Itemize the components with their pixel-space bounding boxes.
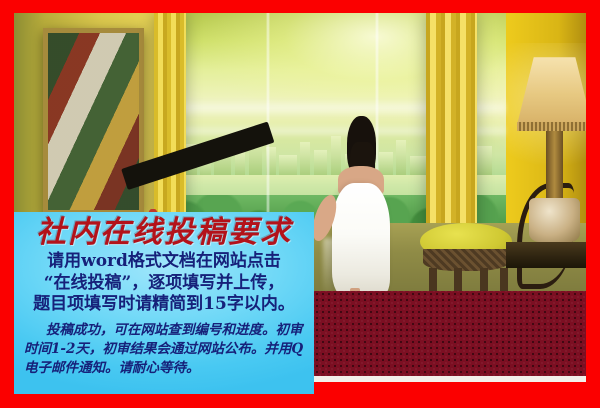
lamp-base [529,198,580,242]
body-line: 请用word格式文档在网站点击 [20,251,308,272]
panel-title: 社内在线投稿要求 [20,217,308,249]
side-table [506,242,586,268]
lamp-stem [546,131,563,201]
white-dress [332,183,390,297]
panel-body: 请用word格式文档在网站点击 “在线投稿”，逐项填写并上传， 题目项填写时请精… [20,251,308,315]
lamp-fringe [517,122,586,131]
submission-requirements-panel: 社内在线投稿要求 请用word格式文档在网站点击 “在线投稿”，逐项填写并上传，… [14,212,314,394]
woman-in-white-dress [323,116,397,301]
poster-root: 社内在线投稿要求 请用word格式文档在网站点击 “在线投稿”，逐项填写并上传，… [0,0,600,408]
panel-note: 投稿成功，可在网站查到编号和进度。初审时间1-2天，初审结果会通过网站公布。并用… [20,321,308,378]
body-line: 题目项填写时请精简到15字以内。 [20,294,308,315]
body-line: “在线投稿”，逐项填写并上传， [20,273,308,294]
